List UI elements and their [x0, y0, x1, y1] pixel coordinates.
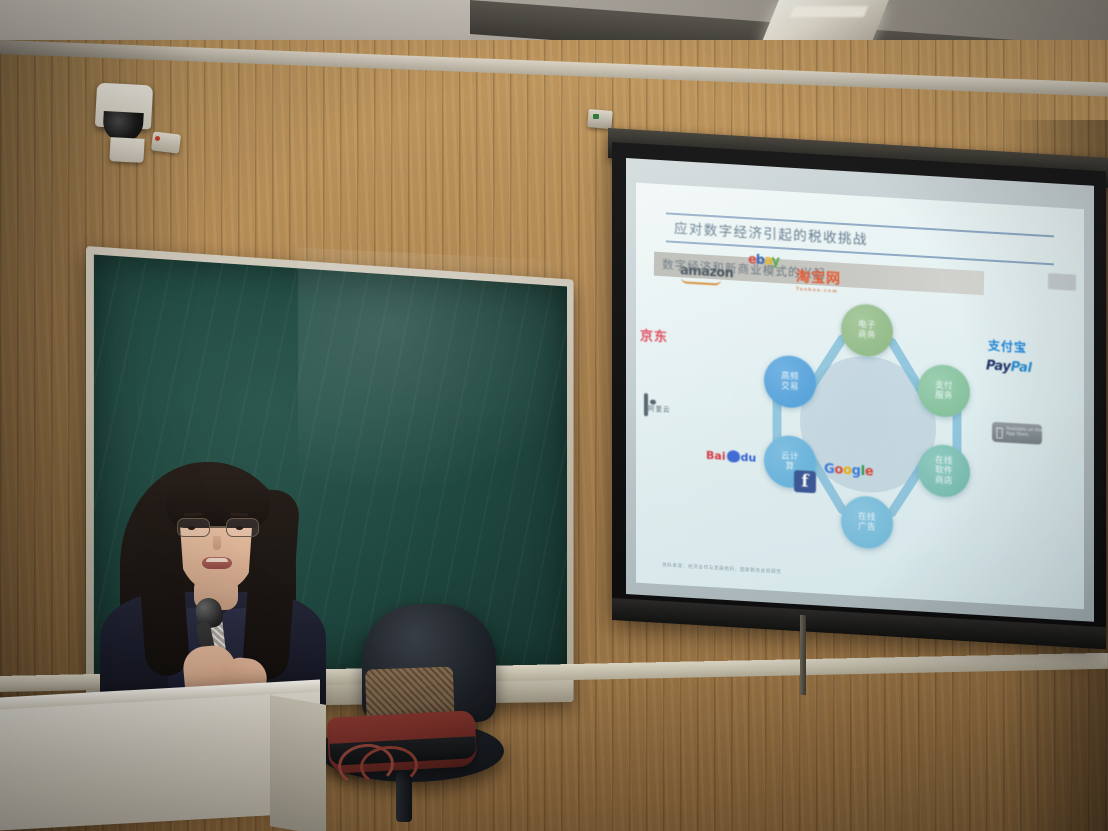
- projection-screen: 应对数字经济引起的税收挑战 数字经济和新商业模式的兴起 电子: [626, 158, 1094, 622]
- google-o2: o: [843, 463, 852, 479]
- wall-device-led-icon: [593, 114, 599, 119]
- baidu-paw-icon: [727, 450, 740, 463]
- node-hft-line2: 交易: [781, 381, 799, 392]
- facebook-f: f: [801, 473, 808, 490]
- diagram-node-appstore: 在线 软件 商店: [918, 443, 970, 498]
- brand-logo-baidu: Baidu: [706, 449, 756, 465]
- presenter-teeth: [206, 558, 228, 562]
- lecture-hall-photo: 应对数字经济引起的税收挑战 数字经济和新商业模式的兴起 电子: [0, 0, 1108, 831]
- brand-logo-paypal: PayPal: [986, 358, 1032, 376]
- node-cloud-line1: 云计: [781, 451, 799, 462]
- taobao-wordmark: 淘宝网: [796, 269, 841, 288]
- projection-screen-pole: [800, 615, 806, 695]
- alipay-wordmark: 支付宝: [988, 339, 1027, 355]
- brand-logo-google: Google: [824, 462, 873, 480]
- brand-logo-facebook: f: [794, 470, 816, 493]
- presenter-nose: [213, 536, 221, 550]
- google-o1: o: [834, 462, 843, 478]
- node-cloud-line2: 算: [786, 461, 795, 472]
- diagram-node-online-ads: 在线 广告: [841, 495, 893, 550]
- paypal-pay: Pay: [986, 358, 1011, 374]
- aliyun-mark-icon: [644, 393, 648, 416]
- baidu-ba: Bai: [706, 449, 726, 463]
- node-appstore-line3: 商店: [935, 475, 953, 486]
- ebay-letter-b: b: [756, 253, 764, 268]
- brand-logo-alipay: 支付宝: [988, 337, 1027, 356]
- amazon-wordmark: amazon: [680, 263, 733, 281]
- presentation-slide: 应对数字经济引起的税收挑战 数字经济和新商业模式的兴起 电子: [636, 183, 1084, 610]
- lamp-tube: [790, 6, 868, 17]
- brand-logo-aliyun: 阿里云: [644, 395, 671, 416]
- google-e: e: [865, 464, 874, 480]
- appstore-wordmark: App Store: [1006, 432, 1028, 438]
- jd-wordmark: 京东: [640, 329, 668, 346]
- slide-footnote: 资料来源：经济合作与发展组织，国家税务总局研究: [662, 562, 992, 588]
- brand-logo-taobao: 淘宝网 Taobao.com: [796, 266, 841, 295]
- ebay-letter-y: y: [772, 254, 779, 269]
- podium-side-panel: [270, 695, 326, 831]
- wall-device-icon: [587, 109, 612, 129]
- taobao-url: Taobao.com: [796, 287, 841, 295]
- glasses-bridge: [210, 526, 226, 528]
- hexagon-ring-diagram: 电子 商务 支付 服务 在线 软件 商店 在线 广告: [742, 293, 992, 558]
- brand-logo-ebay: ebay: [748, 252, 779, 269]
- google-g1: G: [824, 462, 834, 478]
- diagram-node-ecommerce: 电子 商务: [841, 303, 893, 358]
- paypal-pal: Pal: [1011, 360, 1032, 376]
- wall-sensor-icon: [151, 131, 181, 153]
- ebay-letter-a: a: [764, 253, 771, 268]
- node-ads-line2: 广告: [858, 522, 876, 533]
- camera-mount: [109, 137, 144, 163]
- brand-logo-appstore:  Available on the App Store: [992, 422, 1042, 445]
- ebay-letter-e: e: [748, 252, 756, 267]
- presenter-eye-left: [188, 526, 195, 530]
- brand-logo-jd: 京东: [640, 325, 668, 346]
- sensor-led-icon: [155, 136, 160, 141]
- slide-logo-mark-icon: [1048, 273, 1076, 291]
- node-ecommerce-line2: 商务: [858, 330, 876, 341]
- aliyun-wordmark: 阿里云: [648, 404, 671, 413]
- presenter-eye-right: [236, 526, 243, 530]
- node-payment-line2: 服务: [935, 390, 953, 401]
- apple-logo-icon: : [996, 426, 1003, 438]
- baidu-du: du: [741, 451, 757, 465]
- brand-logo-amazon: amazon: [680, 263, 733, 286]
- google-g2: g: [852, 463, 861, 479]
